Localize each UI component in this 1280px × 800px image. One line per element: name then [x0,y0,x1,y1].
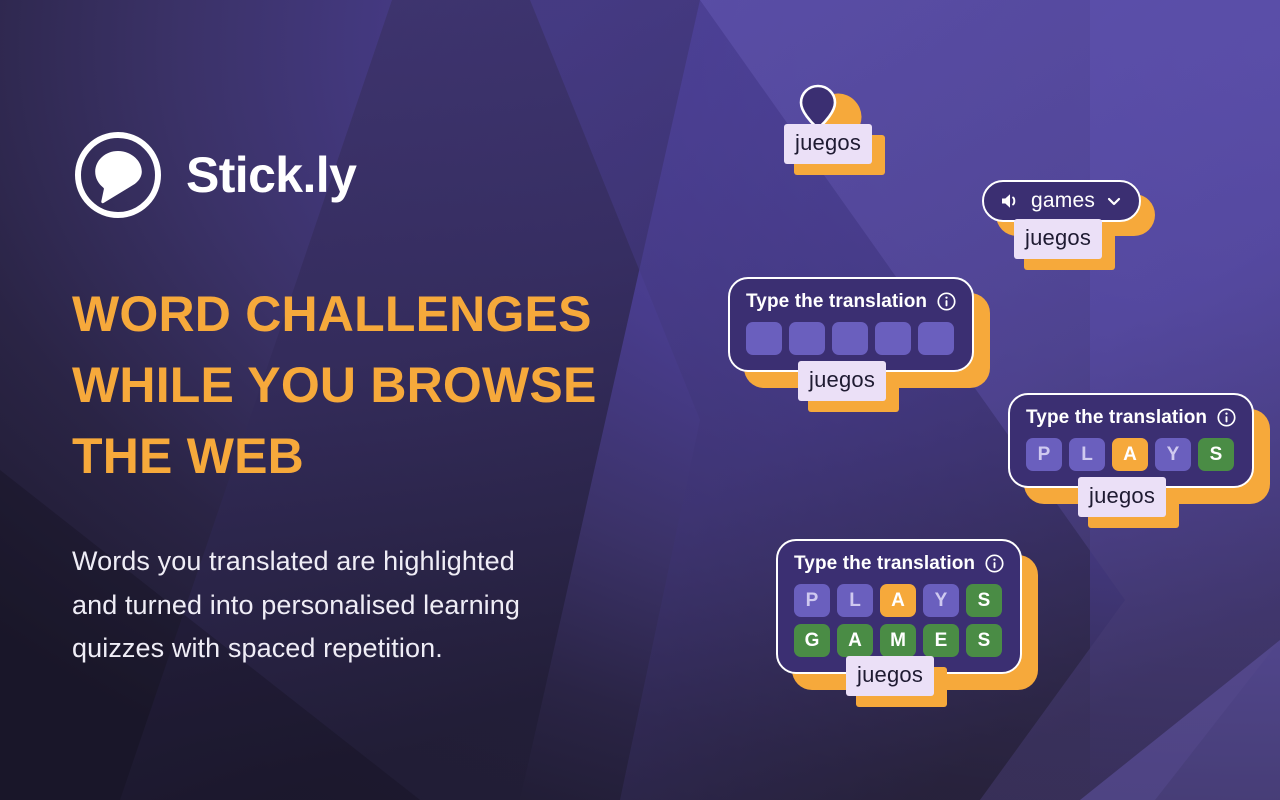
speaker-icon[interactable] [1000,192,1020,210]
info-icon[interactable] [1217,408,1236,427]
word-chip-label: juegos [1078,477,1166,517]
quiz-tile[interactable] [918,322,954,355]
quiz-tile[interactable]: E [923,624,959,657]
quiz-card-title: Type the translation [1026,408,1207,427]
word-chip-pill[interactable]: juegos [1014,219,1102,259]
quiz-tile[interactable]: P [794,584,830,617]
quiz-tile-row [746,322,956,355]
word-chip-quiz-partial[interactable]: juegos [1078,477,1166,517]
quiz-tile[interactable]: S [1198,438,1234,471]
quiz-tile[interactable] [789,322,825,355]
info-icon[interactable] [985,554,1004,573]
pronounce-pill[interactable]: games [982,180,1141,222]
quiz-tile[interactable] [746,322,782,355]
quiz-tile-row: P L A Y S [1026,438,1236,471]
info-icon[interactable] [937,292,956,311]
word-chip-label: juegos [1014,219,1102,259]
quiz-tile[interactable] [832,322,868,355]
quiz-tile[interactable]: S [966,624,1002,657]
quiz-card-header: Type the translation [1026,408,1236,427]
quiz-card-header: Type the translation [746,292,956,311]
quiz-tile[interactable]: L [837,584,873,617]
quiz-tile[interactable]: A [837,624,873,657]
quiz-card-solved[interactable]: Type the translation P L A Y S G [776,539,1022,674]
quiz-tile-row: G A M E S [794,624,1004,657]
quiz-tile[interactable]: A [1112,438,1148,471]
quiz-card-partial[interactable]: Type the translation P L A Y S [1008,393,1254,488]
quiz-tile[interactable]: A [880,584,916,617]
quiz-tile[interactable]: S [966,584,1002,617]
word-chip-pin[interactable]: juegos [784,124,872,164]
quiz-tile[interactable]: P [1026,438,1062,471]
quiz-card-title: Type the translation [794,554,975,573]
quiz-tile[interactable] [875,322,911,355]
quiz-tile[interactable]: G [794,624,830,657]
word-chip-label: juegos [784,124,872,164]
quiz-tile[interactable]: L [1069,438,1105,471]
quiz-tile[interactable]: Y [1155,438,1191,471]
pronounce-pill-label: games [1031,190,1095,211]
quiz-tile[interactable]: M [880,624,916,657]
map-pin-icon [798,84,838,128]
widget-collage: juegos games juegos [0,0,1280,800]
word-chip-label: juegos [798,361,886,401]
quiz-card-empty[interactable]: Type the translation [728,277,974,372]
chevron-down-icon[interactable] [1106,193,1122,209]
word-chip-label: juegos [846,656,934,696]
word-chip-quiz-solved[interactable]: juegos [846,656,934,696]
quiz-card-header: Type the translation [794,554,1004,573]
word-chip-quiz-empty[interactable]: juegos [798,361,886,401]
quiz-tile[interactable]: Y [923,584,959,617]
quiz-card-title: Type the translation [746,292,927,311]
quiz-tile-row: P L A Y S [794,584,1004,617]
